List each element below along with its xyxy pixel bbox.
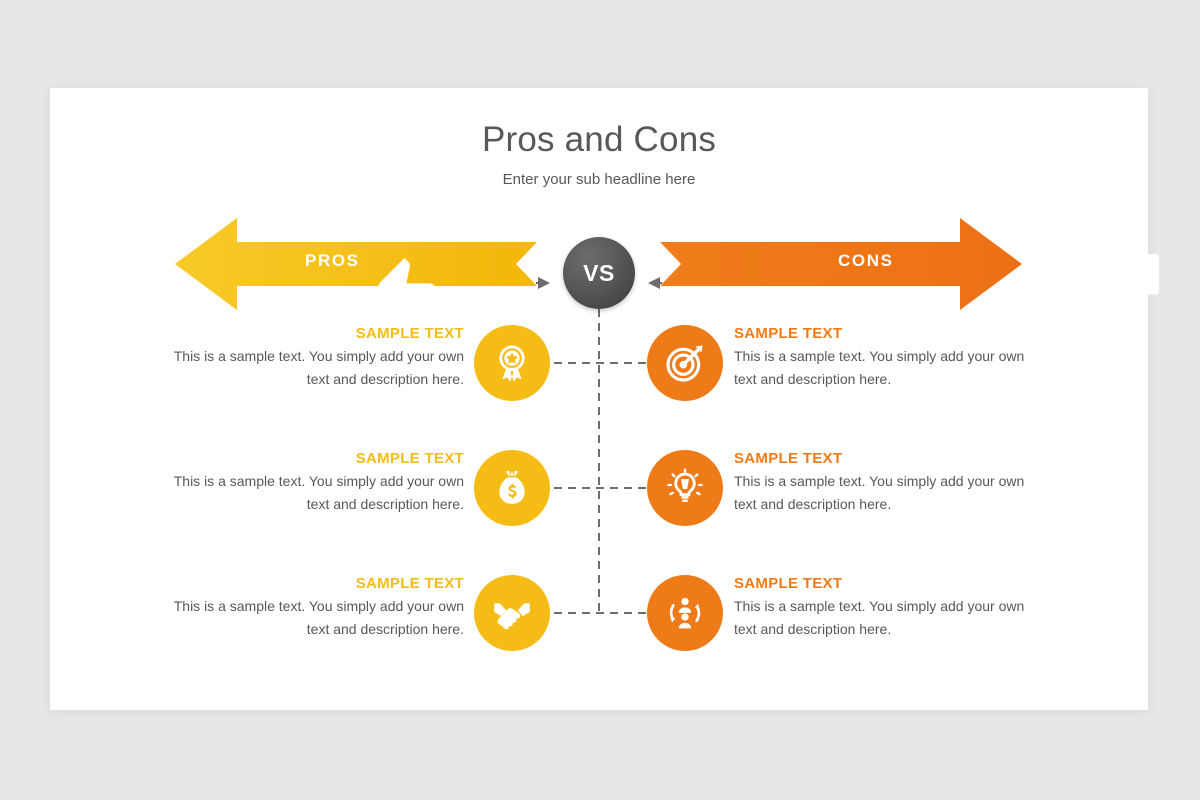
pros-item-body: This is a sample text. You simply add yo…	[160, 470, 464, 515]
award-ribbon-icon	[492, 343, 532, 383]
cons-item-body: This is a sample text. You simply add yo…	[734, 595, 1038, 640]
pros-item-body: This is a sample text. You simply add yo…	[160, 595, 464, 640]
thumbs-down-icon	[938, 245, 1200, 337]
comparison-row: SAMPLE TEXT This is a sample text. You s…	[50, 325, 1148, 401]
cons-item-heading: SAMPLE TEXT	[734, 325, 1038, 342]
cons-icon-circle[interactable]	[647, 450, 723, 526]
team-exchange-icon	[665, 593, 705, 633]
pros-label: PROS	[305, 251, 360, 271]
cons-label: CONS	[838, 251, 894, 271]
comparison-row: SAMPLE TEXT This is a sample text. You s…	[50, 450, 1148, 526]
pros-item-heading: SAMPLE TEXT	[160, 575, 464, 592]
cons-item-heading: SAMPLE TEXT	[734, 450, 1038, 467]
comparison-row: SAMPLE TEXT This is a sample text. You s…	[50, 575, 1148, 651]
handshake-icon	[492, 593, 532, 633]
cons-item-body: This is a sample text. You simply add yo…	[734, 345, 1038, 390]
money-bag-icon	[492, 468, 532, 508]
pros-text-block: SAMPLE TEXT This is a sample text. You s…	[160, 575, 464, 640]
page-subtitle: Enter your sub headline here	[50, 171, 1148, 188]
pros-icon-circle[interactable]	[474, 450, 550, 526]
pros-icon-circle[interactable]	[474, 575, 550, 651]
vs-label: VS	[583, 260, 615, 287]
cons-banner[interactable]: CONS	[660, 218, 1022, 310]
pros-item-body: This is a sample text. You simply add yo…	[160, 345, 464, 390]
vs-badge: VS	[563, 237, 635, 309]
pros-item-heading: SAMPLE TEXT	[160, 450, 464, 467]
pros-item-heading: SAMPLE TEXT	[160, 325, 464, 342]
cons-icon-circle[interactable]	[647, 575, 723, 651]
cons-icon-circle[interactable]	[647, 325, 723, 401]
cons-text-block: SAMPLE TEXT This is a sample text. You s…	[734, 450, 1038, 515]
pros-banner[interactable]: PROS	[175, 218, 537, 310]
thumbs-up-icon	[220, 245, 582, 337]
pros-text-block: SAMPLE TEXT This is a sample text. You s…	[160, 450, 464, 515]
target-dart-icon	[665, 343, 705, 383]
cons-text-block: SAMPLE TEXT This is a sample text. You s…	[734, 325, 1038, 390]
slide-card: Pros and Cons Enter your sub headline he…	[50, 88, 1148, 710]
cons-item-heading: SAMPLE TEXT	[734, 575, 1038, 592]
pros-icon-circle[interactable]	[474, 325, 550, 401]
lightbulb-icon	[665, 468, 705, 508]
cons-text-block: SAMPLE TEXT This is a sample text. You s…	[734, 575, 1038, 640]
cons-item-body: This is a sample text. You simply add yo…	[734, 470, 1038, 515]
pros-text-block: SAMPLE TEXT This is a sample text. You s…	[160, 325, 464, 390]
page-title: Pros and Cons	[50, 120, 1148, 160]
